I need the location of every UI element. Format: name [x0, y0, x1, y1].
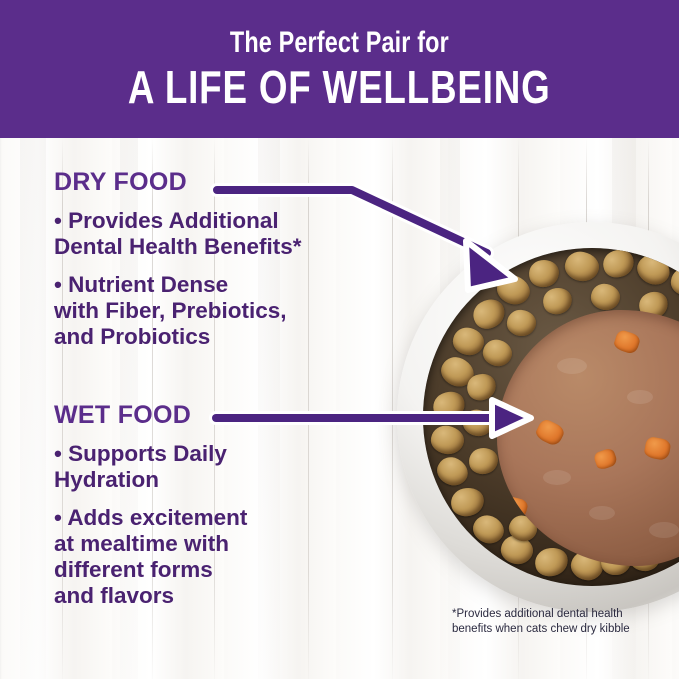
wet-food-bullet-2-line-2: at mealtime with	[54, 531, 229, 556]
wet-food-bullet-1-line-1: Supports Daily	[68, 441, 227, 466]
wet-food-section: WET FOOD • Supports Daily Hydration • Ad…	[54, 403, 374, 622]
bullet-glyph: •	[54, 505, 62, 530]
header-subtitle: The Perfect Pair for	[230, 28, 449, 58]
dry-food-bullet-1-line-2: Dental Health Benefits*	[54, 234, 302, 259]
wood-grain	[20, 138, 46, 679]
dry-food-bullet-1: • Provides Additional Dental Health Bene…	[54, 208, 374, 260]
bullet-glyph: •	[54, 441, 62, 466]
wet-food-bullet-1: • Supports Daily Hydration	[54, 441, 374, 493]
wet-food-bullet-1-line-2: Hydration	[54, 467, 159, 492]
plank-line	[392, 138, 393, 679]
footnote-line-1: *Provides additional dental health	[452, 608, 623, 620]
dry-food-bullet-2-line-2: with Fiber, Prebiotics,	[54, 298, 287, 323]
infographic-canvas: The Perfect Pair for A LIFE OF WELLBEING	[0, 0, 679, 679]
cat-food-bowl-image	[397, 222, 679, 612]
footnote-line-2: benefits when cats chew dry kibble	[452, 623, 630, 635]
wet-food-bullet-2: • Adds excitement at mealtime with diffe…	[54, 505, 374, 609]
header-banner: The Perfect Pair for A LIFE OF WELLBEING	[0, 0, 679, 138]
dry-food-bullet-2-line-3: and Probiotics	[54, 324, 210, 349]
carrot-piece	[593, 447, 619, 471]
dry-food-title: DRY FOOD	[54, 170, 374, 195]
carrot-piece	[534, 417, 567, 447]
footnote-disclaimer: *Provides additional dental health benef…	[452, 607, 662, 638]
wet-food-bullet-2-line-1: Adds excitement	[67, 505, 247, 530]
wet-food-bullet-2-line-3: different forms	[54, 557, 213, 582]
bowl-interior	[423, 248, 679, 586]
carrot-piece	[612, 329, 641, 355]
wet-food-bullet-2-line-4: and flavors	[54, 583, 174, 608]
dry-food-bullet-2: • Nutrient Dense with Fiber, Prebiotics,…	[54, 272, 374, 350]
header-title: A LIFE OF WELLBEING	[128, 64, 551, 110]
bullet-glyph: •	[54, 208, 62, 233]
wet-food-title: WET FOOD	[54, 403, 374, 428]
dry-food-bullet-2-line-1: Nutrient Dense	[68, 272, 228, 297]
dry-food-section: DRY FOOD • Provides Additional Dental He…	[54, 170, 374, 362]
carrot-piece	[643, 436, 671, 461]
bullet-glyph: •	[54, 272, 62, 297]
dry-food-bullet-1-line-1: Provides Additional	[68, 208, 278, 233]
